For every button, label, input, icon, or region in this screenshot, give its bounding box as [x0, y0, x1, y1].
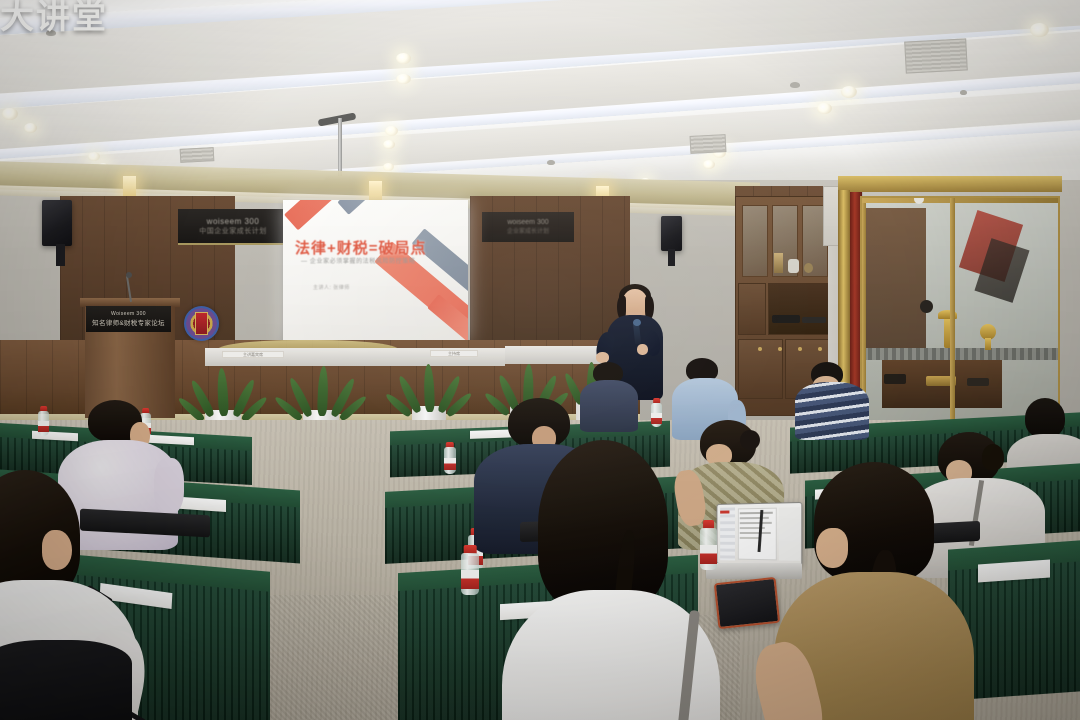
sprinkler-head	[790, 82, 800, 88]
bottle-label	[461, 570, 479, 589]
left-wall-speaker	[42, 200, 72, 246]
left-speaker-bracket	[56, 244, 65, 266]
downlight	[396, 53, 411, 64]
cabinet-glass-door[interactable]	[742, 205, 768, 277]
head-hair	[538, 440, 668, 610]
cabinet-knob-icon[interactable]	[778, 347, 782, 351]
downlight	[383, 163, 394, 171]
laptop-accent	[720, 511, 729, 514]
wall-sign-line2: 中国企业家成长计划	[199, 226, 267, 236]
wall-brand-sign-left: woiseem 300 中国企业家成长计划	[178, 209, 288, 245]
cabinet-panel	[738, 283, 766, 335]
slide-title: 法律+财税=破局点	[295, 237, 445, 258]
downlight	[383, 140, 395, 149]
nameplate: 主讲嘉宾席	[222, 351, 284, 358]
nameplate: 主持席	[430, 350, 478, 357]
bottle-label	[651, 413, 662, 424]
downlight	[385, 126, 398, 136]
downlight	[24, 123, 37, 133]
cabinet-ornament	[788, 259, 799, 273]
wall-sign-line1: woiseem 300	[207, 217, 260, 226]
slide-footer: 主讲人: 张律师	[313, 284, 350, 291]
podium-mic-head-icon	[126, 272, 132, 278]
cabinet-knob-icon[interactable]	[798, 347, 802, 351]
right-wall-speaker	[661, 216, 682, 251]
laptop-document	[738, 508, 777, 561]
partition-header-frame	[838, 176, 1062, 192]
adjacent-room-object	[920, 300, 933, 313]
downlight	[703, 160, 715, 169]
document-line	[740, 522, 772, 524]
venue-banner-text: 大讲堂	[0, 0, 1080, 34]
slide-subtitle: — 企业家必须掌握的法税风险防控策略	[301, 256, 446, 265]
bottle-label	[444, 458, 456, 470]
adjacent-room-wood-wall	[866, 208, 926, 358]
document-line	[740, 532, 771, 534]
downlight	[88, 152, 100, 161]
arm	[154, 458, 184, 514]
head-hair	[1025, 398, 1065, 438]
sprinkler-head	[960, 90, 967, 95]
adjacent-room-object	[967, 378, 989, 386]
partition-mullion	[862, 198, 1058, 203]
laptop-sidebar	[720, 507, 735, 560]
cabinet-knob-icon[interactable]	[758, 347, 762, 351]
sprinkler-head	[547, 160, 555, 165]
wall-sign-right-line2: 企业家成长计划	[507, 226, 549, 235]
trophy-stem	[985, 338, 991, 350]
wall-sign-right-line1: woiseem 300	[507, 219, 548, 226]
cabinet-ornament	[774, 253, 783, 273]
cabinet-knob-icon[interactable]	[818, 347, 822, 351]
laptop-screen[interactable]	[716, 502, 802, 566]
hair-bun	[982, 444, 1004, 470]
downlight	[2, 108, 18, 120]
cabinet-open-shelf	[768, 283, 830, 335]
water-bottle	[651, 398, 662, 427]
cabinet-dark-object	[802, 317, 826, 323]
cabinet-dark-object	[772, 315, 800, 323]
ceiling-vent	[904, 38, 968, 73]
podium-sign-line2: 知名律师&财税专家论坛	[92, 317, 165, 327]
tablet-device[interactable]	[714, 577, 780, 629]
slide-shape-grey	[337, 200, 394, 215]
glass-partition	[860, 196, 1060, 431]
laptop-right-pane	[779, 507, 800, 561]
projection-screen: 法律+财税=破局点 — 企业家必须掌握的法税风险防控策略 主讲人: 张律师	[283, 200, 468, 342]
podium-sign: Woiseem 300 知名律师&财税专家论坛	[86, 306, 171, 332]
laptop-keyboard-base[interactable]	[706, 563, 802, 579]
hair-bun	[740, 430, 760, 450]
downlight	[817, 103, 832, 114]
adjacent-room-counter	[864, 348, 1060, 360]
head	[42, 530, 72, 570]
torso	[0, 640, 132, 720]
water-bottle	[700, 520, 717, 570]
lecture-hall-photo: woiseem 300 中国企业家成长计划 woiseem 300 企业家成长计…	[0, 0, 1080, 720]
downlight	[841, 86, 857, 98]
head	[816, 528, 848, 568]
adjacent-room-object	[884, 374, 906, 384]
bottle-label	[700, 545, 717, 564]
cabinet-ornament	[804, 263, 813, 273]
ceiling-vent	[180, 147, 215, 163]
water-bottle	[444, 442, 456, 474]
presenter-right-hand	[637, 344, 648, 355]
award-emblem-core	[195, 312, 208, 335]
wall-brand-sign-right: woiseem 300 企业家成长计划	[482, 212, 574, 242]
torso	[580, 380, 638, 432]
water-bottle	[461, 545, 479, 595]
ceiling-vent	[690, 134, 727, 154]
wall-accent-lamp	[369, 181, 382, 202]
torso	[795, 382, 869, 440]
bottle-label	[38, 421, 49, 432]
downlight	[396, 74, 411, 84]
right-speaker-bracket	[668, 249, 675, 266]
microphone-head-icon	[633, 319, 641, 326]
water-bottle	[38, 406, 49, 436]
partition-mullion	[950, 198, 955, 429]
